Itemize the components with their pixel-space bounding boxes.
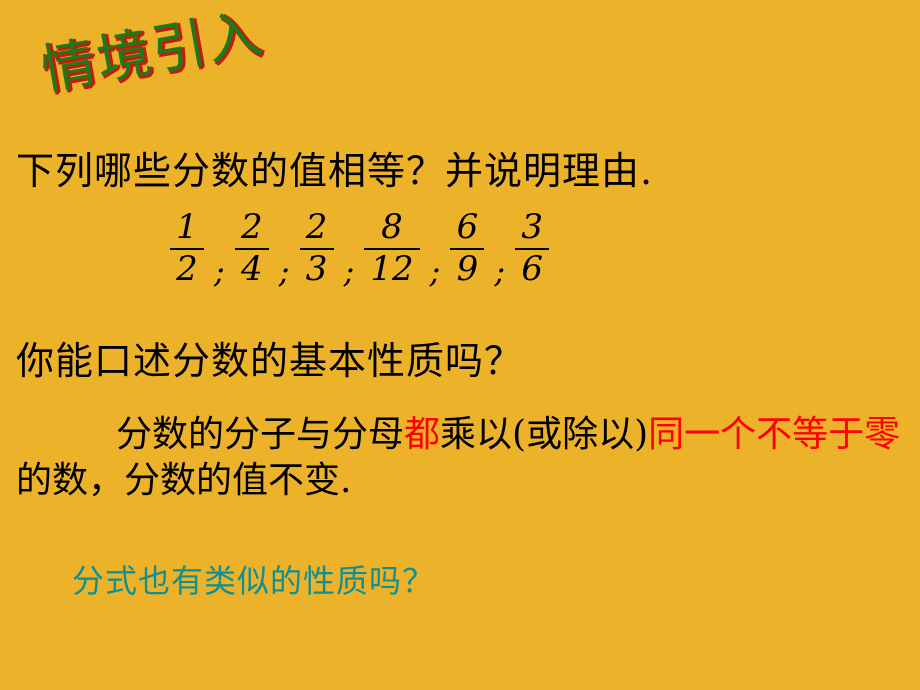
fraction-separator: ; xyxy=(430,226,441,290)
fraction-separator: ; xyxy=(214,226,225,290)
fraction-denominator: 4 xyxy=(235,250,269,288)
fraction-denominator: 12 xyxy=(364,250,419,288)
rule-segment-2: 乘以(或除以) xyxy=(440,414,648,455)
fraction-item: 2 4 xyxy=(235,210,269,287)
fraction-list: 1 2 ; 2 4 ; 2 3 ; 8 12 ; 6 9 ; xyxy=(168,208,551,290)
fraction-item: 6 9 xyxy=(450,210,484,287)
section-title-text: 情境引入 xyxy=(34,0,268,105)
fraction-numerator: 3 xyxy=(515,210,549,248)
fraction-separator: ; xyxy=(279,226,290,290)
fraction-denominator: 2 xyxy=(170,250,204,288)
fraction-denominator: 9 xyxy=(451,250,485,288)
fraction-separator: ; xyxy=(494,226,505,290)
fraction-denominator: 6 xyxy=(515,250,549,288)
fraction-numerator: 2 xyxy=(300,210,334,248)
fraction-item: 2 3 xyxy=(300,210,334,287)
section-title: 情境引入 xyxy=(48,26,348,106)
question-one-text: 下列哪些分数的值相等？并说明理由. xyxy=(16,140,653,195)
fraction-numerator: 2 xyxy=(235,210,269,248)
fraction-separator: ; xyxy=(344,226,355,290)
fraction-numerator: 1 xyxy=(170,210,204,248)
slide-canvas: 情境引入 下列哪些分数的值相等？并说明理由. 1 2 ; 2 4 ; 2 3 ;… xyxy=(0,0,920,690)
rule-segment-0: 分数的分子与分母 xyxy=(116,414,404,455)
rule-segment-1: 都 xyxy=(404,414,440,455)
fraction-item: 8 12 xyxy=(364,210,419,287)
rule-segment-3: 同一个不等于零 xyxy=(648,414,900,455)
fraction-numerator: 6 xyxy=(451,210,485,248)
fraction-rule-paragraph: 分数的分子与分母都乘以(或除以)同一个不等于零的数，分数的值不变. xyxy=(16,412,906,504)
fraction-denominator: 3 xyxy=(300,250,334,288)
fraction-item: 1 2 xyxy=(170,210,204,287)
fraction-item: 3 6 xyxy=(515,210,549,287)
rule-segment-4: 的数，分数的值不变. xyxy=(16,460,351,501)
question-two-text: 你能口述分数的基本性质吗？ xyxy=(16,330,523,385)
closing-question-text: 分式也有类似的性质吗？ xyxy=(72,556,435,602)
fraction-numerator: 8 xyxy=(375,210,409,248)
